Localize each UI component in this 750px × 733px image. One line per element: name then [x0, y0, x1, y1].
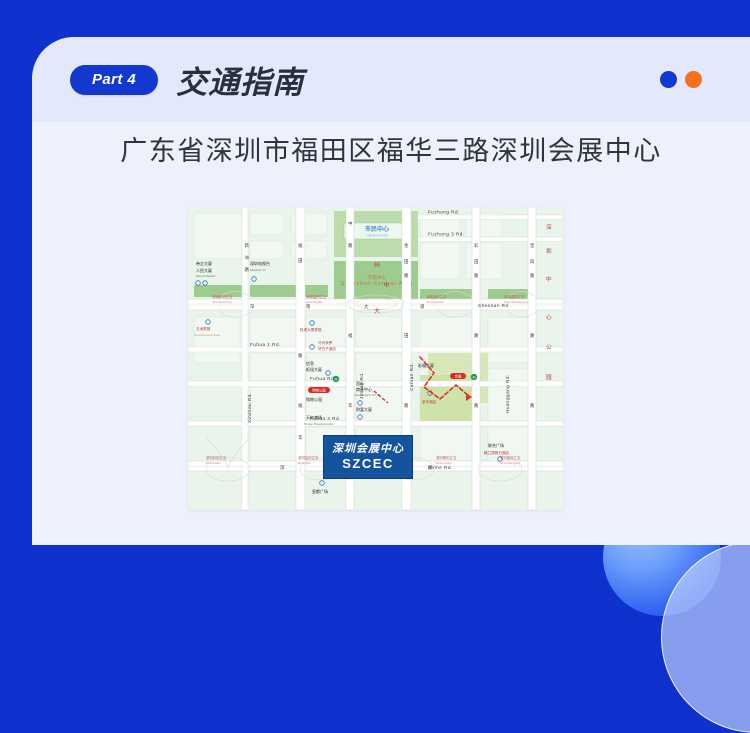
- svg-text:市民中心: 市民中心: [368, 274, 387, 281]
- svg-text:路: 路: [298, 352, 303, 359]
- svg-text:深: 深: [250, 303, 255, 310]
- svg-text:路: 路: [404, 272, 409, 279]
- svg-text:Tin Hon Shopping Centre: Tin Hon Shopping Centre: [304, 422, 334, 426]
- venue-address: 广东省深圳市福田区福华三路深圳会展中心: [32, 129, 750, 168]
- svg-text:Caitian Rd.: Caitian Rd.: [409, 363, 414, 391]
- svg-text:Shennanxinzhou: Shennanxinzhou: [212, 300, 233, 304]
- header-content: Part 4 交通指南: [70, 37, 304, 122]
- svg-text:深南益田立交: 深南益田立交: [306, 294, 327, 299]
- svg-text:Fuzhong Rd.: Fuzhong Rd.: [428, 210, 460, 215]
- svg-text:华: 华: [348, 402, 353, 409]
- svg-text:园: 园: [546, 374, 552, 381]
- szcec-logo-en: SZCEC: [342, 456, 394, 472]
- svg-text:岗: 岗: [530, 259, 534, 264]
- svg-text:福: 福: [348, 332, 353, 339]
- svg-text:Shennanjintian: Shennanjintian: [426, 300, 444, 304]
- svg-text:International C of C Ctr: International C of C Ctr: [354, 393, 381, 397]
- svg-text:皇都广场: 皇都广场: [312, 488, 328, 494]
- card-header: Part 4 交通指南: [32, 37, 750, 122]
- svg-text:Shennanhuanggang: Shennanhuanggang: [504, 300, 529, 304]
- svg-text:深南金田立交: 深南金田立交: [426, 294, 447, 299]
- svg-text:滨河皇岗立交: 滨河皇岗立交: [500, 455, 521, 460]
- svg-text:新: 新: [245, 242, 250, 249]
- svg-text:Shenzhen TV: Shenzhen TV: [250, 268, 266, 272]
- svg-text:圳: 圳: [546, 247, 552, 255]
- svg-text:皇: 皇: [530, 242, 535, 248]
- svg-text:滨河彩田立交: 滨河彩田立交: [206, 455, 227, 460]
- svg-text:天虹商场: 天虹商场: [306, 414, 322, 420]
- svg-text:大: 大: [374, 307, 380, 315]
- svg-text:福: 福: [298, 242, 303, 249]
- svg-text:Binhehuanggang: Binhehuanggang: [500, 461, 521, 465]
- header-dots: [660, 71, 702, 88]
- svg-text:Huanggang Rd.: Huanggang Rd.: [505, 374, 510, 413]
- svg-text:路: 路: [404, 402, 409, 409]
- svg-text:人民大厦: 人民大厦: [196, 267, 212, 273]
- svg-text:洲: 洲: [245, 255, 250, 260]
- svg-text:Xinzhou Rd.: Xinzhou Rd.: [247, 392, 252, 423]
- svg-text:中: 中: [384, 281, 390, 289]
- svg-text:福: 福: [298, 402, 303, 409]
- svg-text:M: M: [335, 378, 338, 382]
- svg-text:彩: 彩: [474, 242, 479, 249]
- svg-text:路: 路: [474, 402, 479, 409]
- svg-text:心: 心: [546, 314, 552, 321]
- svg-text:圣华酒店: 圣华酒店: [422, 399, 437, 404]
- svg-text:州: 州: [374, 262, 380, 269]
- svg-text:Binhemintian: Binhemintian: [436, 461, 452, 465]
- svg-text:会展: 会展: [455, 373, 462, 378]
- svg-text:路: 路: [530, 402, 535, 409]
- svg-text:深南皇岗立交: 深南皇岗立交: [504, 294, 525, 299]
- svg-text:购物公园: 购物公园: [306, 396, 322, 402]
- svg-text:Fuzhong 3 Rd.: Fuzhong 3 Rd.: [428, 232, 465, 237]
- svg-text:Wuzhou Guest House: Wuzhou Guest House: [194, 333, 221, 337]
- szcec-logo-cn: 深圳会展中心: [332, 443, 404, 455]
- svg-text:Fuhua Rd.: Fuhua Rd.: [310, 376, 336, 381]
- svg-text:商会中心: 商会中心: [356, 386, 372, 392]
- blue-dot-icon: [660, 71, 677, 88]
- svg-text:南: 南: [306, 303, 311, 309]
- map-image: .blk{fill:#e9f4ea} .grn{fill:#9ecb8e} .g…: [188, 207, 563, 510]
- svg-text:公: 公: [546, 345, 552, 351]
- svg-text:中: 中: [348, 220, 352, 227]
- svg-text:Citizen Centre: Citizen Centre: [366, 234, 388, 238]
- svg-text:投资大厦宾馆: 投资大厦宾馆: [300, 327, 322, 332]
- svg-text:市民中心: 市民中心: [365, 225, 389, 233]
- part-badge: Part 4: [70, 65, 158, 95]
- svg-text:M: M: [473, 376, 476, 380]
- svg-text:Fuhua 1 Rd.: Fuhua 1 Rd.: [250, 342, 281, 347]
- svg-text:路: 路: [348, 242, 353, 249]
- svg-text:滨河益田立交: 滨河益田立交: [298, 455, 319, 460]
- svg-text:财富大厦: 财富大厦: [356, 406, 372, 412]
- svg-text:Renmin Mansion: Renmin Mansion: [196, 274, 216, 278]
- svg-text:滨: 滨: [280, 464, 285, 471]
- svg-text:金: 金: [404, 242, 409, 248]
- svg-text:大: 大: [364, 303, 369, 310]
- svg-text:Binhecaitian: Binhecaitian: [206, 461, 221, 465]
- svg-text:道: 道: [428, 464, 433, 471]
- svg-text:道: 道: [420, 303, 425, 310]
- svg-text:深: 深: [546, 223, 552, 231]
- svg-text:路: 路: [530, 272, 535, 279]
- szcec-venue-logo: 深圳会展中心 SZCEC: [323, 435, 413, 479]
- svg-text:格兰德假日酒店: 格兰德假日酒店: [484, 450, 510, 455]
- svg-text:帝企大厦: 帝企大厦: [196, 260, 212, 266]
- svg-text:国际: 国际: [356, 380, 364, 386]
- svg-text:联合广场: 联合广场: [488, 442, 504, 448]
- svg-text:信息: 信息: [306, 360, 314, 366]
- svg-text:滨河明田立交: 滨河明田立交: [436, 455, 457, 460]
- svg-text:好日子酒店: 好日子酒店: [318, 346, 336, 351]
- svg-text:Binheyitian: Binheyitian: [298, 461, 312, 465]
- content-card: Part 4 交通指南 广东省深圳市福田区福华三路深圳会展中心 .blk{fil…: [32, 37, 750, 545]
- svg-text:路: 路: [474, 332, 479, 339]
- svg-text:枢纽大厦: 枢纽大厦: [306, 366, 322, 372]
- svg-text:深南新洲立交: 深南新洲立交: [212, 294, 233, 299]
- svg-text:购物公园: 购物公园: [312, 387, 326, 392]
- svg-text:马可孛罗: 马可孛罗: [318, 340, 333, 345]
- orange-dot-icon: [685, 71, 702, 88]
- svg-text:路: 路: [474, 272, 479, 279]
- page-title: 交通指南: [176, 57, 304, 102]
- svg-text:五洲宾馆: 五洲宾馆: [196, 326, 211, 331]
- svg-text:华: 华: [298, 434, 303, 441]
- svg-text:路: 路: [245, 266, 250, 273]
- svg-text:深圳电视台: 深圳电视台: [250, 260, 270, 266]
- svg-text:路: 路: [530, 332, 535, 339]
- svg-text:中: 中: [546, 275, 552, 283]
